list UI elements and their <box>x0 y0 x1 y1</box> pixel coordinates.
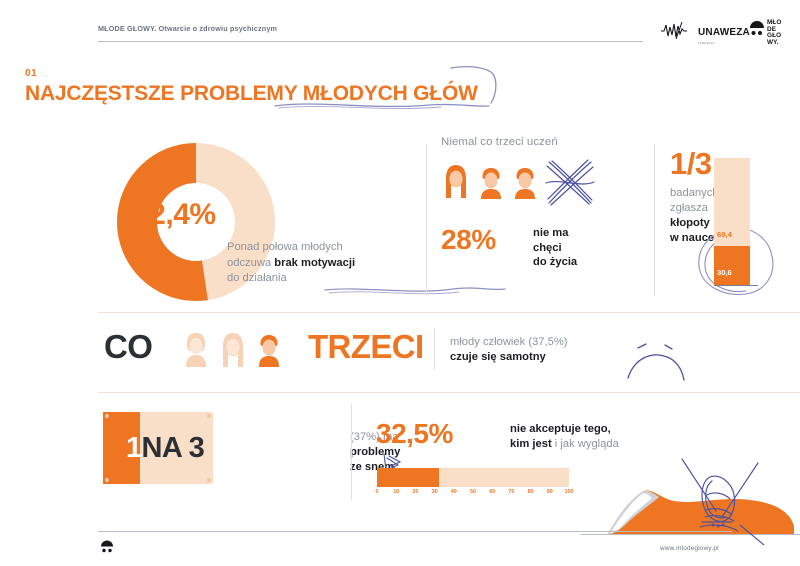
progress-bar-accept <box>377 468 569 487</box>
corner-dot <box>207 478 211 482</box>
axis-tick-label: 100 <box>565 489 574 495</box>
progress-bar-axis: 0102030405060708090100 <box>377 489 573 499</box>
mid-description: nie ma chęci do życia <box>533 226 577 270</box>
bar-top-value: 69,4 <box>717 230 732 239</box>
axis-tick-label: 70 <box>508 489 514 495</box>
row2-bottom-rule <box>98 392 800 393</box>
axis-tick-label: 0 <box>376 489 379 495</box>
axis-tick-label: 30 <box>432 489 438 495</box>
sad-face-scribble-icon <box>620 334 690 389</box>
person-icon-crossed-out <box>513 167 537 205</box>
underline-scribble-icon <box>323 284 508 303</box>
footer-logo-mark <box>100 540 114 559</box>
row3-divider <box>351 404 352 500</box>
axis-tick-label: 90 <box>547 489 553 495</box>
bar-bottom-value: 30,6 <box>717 268 732 277</box>
word-co: CO <box>104 328 152 366</box>
logo-mlode-text: MŁO DE GŁO WY. <box>767 20 782 46</box>
row1-divider-2 <box>654 144 655 296</box>
logo-unaweza-text: UNAWEZA FUNDACJA <box>698 22 750 45</box>
accept-value-label: 32,5% <box>376 418 453 450</box>
waveform-icon <box>661 22 695 44</box>
donut-description: Ponad połowa młodych odczuwa brak motywa… <box>227 240 405 287</box>
header-divider <box>98 41 643 42</box>
row1-divider-1 <box>426 144 427 296</box>
logo-unaweza: UNAWEZA FUNDACJA <box>661 22 750 45</box>
progress-bar-fill <box>377 468 439 487</box>
row2-divider <box>434 328 435 370</box>
footer-url: www.mlodeglowy.pl <box>660 545 719 552</box>
head-dots-icon <box>100 540 114 554</box>
stats-row-lonely: CO <box>98 320 800 388</box>
lonely-description: młody człowiek (37,5%) czuje się samotny <box>450 335 568 365</box>
corner-dot <box>105 478 109 482</box>
row2-top-rule <box>98 312 800 313</box>
person-icon-pale-1 <box>183 332 209 373</box>
pictogram-no-will-to-live: Niemal co trzeci uczeń <box>441 136 641 148</box>
seated-person-scribble-icon <box>672 455 768 550</box>
header-title: MŁODE GŁOWY. Otwarcie o zdrowiu psychicz… <box>98 24 277 33</box>
bar-baseline <box>714 285 758 286</box>
person-icon-group <box>443 164 537 205</box>
title-scribble-icon <box>255 62 505 117</box>
axis-tick-label: 10 <box>393 489 399 495</box>
cross-out-scribble-icon <box>545 158 595 213</box>
label-one-in-three: 1NA 3 <box>126 432 204 465</box>
bar-segment-bottom <box>714 246 750 285</box>
corner-dot <box>105 414 109 418</box>
stacked-bar-school: 69,4 30,6 <box>714 158 750 285</box>
axis-tick-label: 80 <box>528 489 534 495</box>
axis-tick-label: 50 <box>470 489 476 495</box>
axis-tick-label: 60 <box>489 489 495 495</box>
head-dots-icon <box>749 20 765 42</box>
donut-value-label: 52,4% <box>133 198 273 232</box>
axis-tick-label: 20 <box>412 489 418 495</box>
section-number: 01 <box>25 68 37 79</box>
mid-value-label: 28% <box>441 224 496 256</box>
mid-heading: Niemal co trzeci uczeń <box>441 136 641 148</box>
person-icon-short-hair <box>479 167 503 205</box>
accept-description: nie akceptuje tego, kim jest i jak wyglą… <box>510 422 619 452</box>
word-trzeci: TRZECI <box>308 328 424 366</box>
axis-tick-label: 40 <box>451 489 457 495</box>
person-icon-group-lonely <box>183 332 281 373</box>
infographic-page: MŁODE GŁOWY. Otwarcie o zdrowiu psychicz… <box>0 0 800 566</box>
person-icon-highlighted <box>257 334 281 373</box>
logo-mlode-glowy: MŁO DE GŁO WY. <box>749 20 782 46</box>
person-icon-pale-2 <box>220 332 246 373</box>
stats-row-top: 52,4% Ponad połowa młodych odczuwa brak … <box>98 136 800 308</box>
corner-dot <box>207 414 211 418</box>
page-header: MŁODE GŁOWY. Otwarcie o zdrowiu psychicz… <box>98 22 732 52</box>
person-icon-long-hair <box>443 164 469 205</box>
footer-divider <box>98 531 732 532</box>
